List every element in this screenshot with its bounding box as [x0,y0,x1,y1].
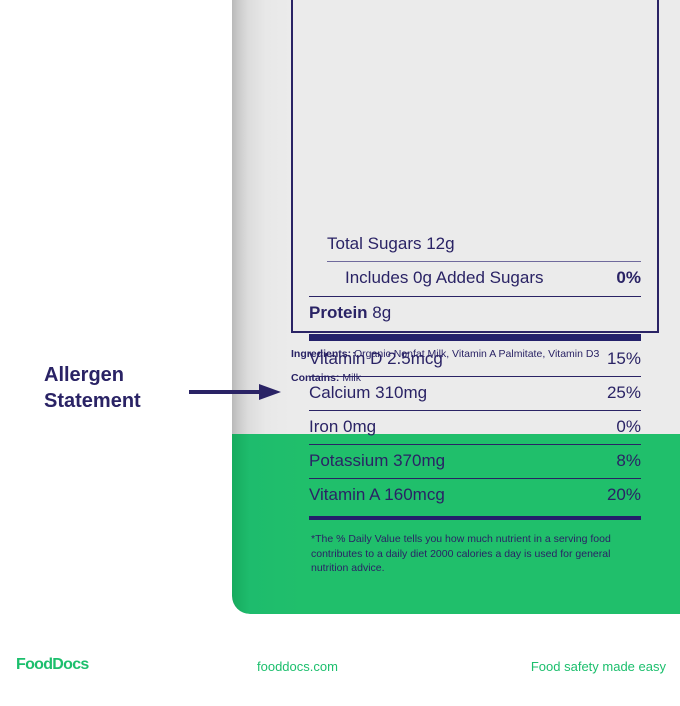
protein-bold-label: Protein [309,303,368,322]
annotation-line-1: Allergen [44,362,204,388]
ingredients-value: Organic Nonfat Milk, Vitamin A Palmitate… [351,348,599,360]
page-footer: FoodDocs fooddocs.com Food safety made e… [0,646,680,706]
nutrition-row-vitamin-a: Vitamin A 160mcg 20% [309,479,641,512]
contains-line: Contains: Milk [291,371,611,385]
total-sugars-label: Total Sugars 12g [327,234,455,254]
divider-thick [309,334,641,341]
iron-label: Iron 0mg [309,417,376,437]
nutrition-facts-panel: Total Sugars 12g Includes 0g Added Sugar… [291,0,659,333]
annotation-arrow-icon [189,382,281,402]
allergen-statement-annotation: Allergen Statement [44,362,204,415]
footer-tagline: Food safety made easy [531,659,666,674]
vitamin-a-percent: 20% [607,485,641,505]
protein-label: Protein 8g [309,303,391,323]
calcium-percent: 25% [607,383,641,403]
daily-value-footnote: *The % Daily Value tells you how much nu… [309,522,638,575]
fooddocs-logo: FoodDocs [16,656,89,674]
potassium-percent: 8% [616,451,641,471]
iron-percent: 0% [616,417,641,437]
contains-value: Milk [339,372,361,384]
vitamin-d-percent: 15% [607,349,641,369]
potassium-label: Potassium 370mg [309,451,445,471]
nutrition-row-total-sugars: Total Sugars 12g [309,228,641,261]
nutrition-row-added-sugars: Includes 0g Added Sugars 0% [309,262,641,295]
ingredients-block: Ingredients: Organic Nonfat Milk, Vitami… [291,347,611,386]
nutrition-row-iron: Iron 0mg 0% [309,411,641,444]
divider-thick [309,516,641,520]
contains-label: Contains: [291,372,339,384]
footer-website-link[interactable]: fooddocs.com [257,659,338,674]
nutrition-row-potassium: Potassium 370mg 8% [309,445,641,478]
annotation-line-2: Statement [44,388,204,414]
added-sugars-percent: 0% [616,268,641,288]
calcium-label: Calcium 310mg [309,383,427,403]
ingredients-line: Ingredients: Organic Nonfat Milk, Vitami… [291,347,611,361]
added-sugars-label: Includes 0g Added Sugars [345,268,543,288]
nutrition-row-protein: Protein 8g [309,297,641,330]
ingredients-label: Ingredients: [291,348,351,360]
vitamin-a-label: Vitamin A 160mcg [309,485,445,505]
protein-value: 8g [368,303,392,322]
